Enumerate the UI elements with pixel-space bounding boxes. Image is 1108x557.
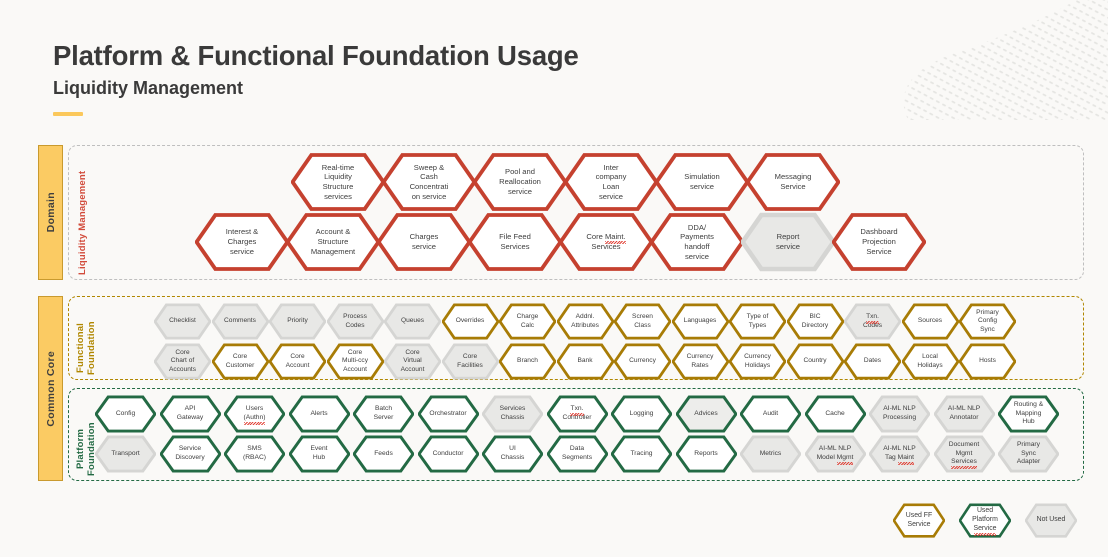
hex-simulation-service[interactable]: Simulation service [655,152,749,212]
hex-label: Services Chassis [491,405,534,422]
hex-txn-codes[interactable]: Txn. Codes [844,303,901,340]
hex-label: Users (Authn) [235,405,274,422]
hex-label: BIC Directory [794,313,836,330]
hex-label: Dates [856,357,889,365]
hex-languages[interactable]: Languages [672,303,729,340]
spellcheck-underline: Maint [898,454,914,463]
hex-label: Currency Holidays [736,353,779,370]
hex-ai-ml-nlp-processing[interactable]: AI-ML NLP Processing [869,395,930,433]
hex-label: Bank [570,357,601,365]
hex-label: Routing & Mapping Hub [1005,401,1051,427]
hex-core-chart-of-accounts[interactable]: Core Chart of Accounts [154,343,211,380]
hex-label: Charge Calc [509,313,547,330]
hex-label: Audit [754,410,786,419]
hex-label: File Feed Services [486,232,544,251]
hex-label: Type of Types [739,313,777,330]
hex-label: Metrics [751,450,790,459]
hex-country[interactable]: Country [787,343,844,380]
hex-label: Logging [621,410,662,419]
hex-core-account[interactable]: Core Account [269,343,326,380]
hex-sms-rbac[interactable]: SMS (RBAC) [224,435,285,473]
hex-label: Service Discovery [167,445,213,462]
hex-label: Document Mgmt Services [940,441,988,467]
hex-report-service[interactable]: Report service [741,212,835,272]
page-title: Platform & Functional Foundation Usage [53,40,579,72]
hex-label: Core Account [278,353,318,370]
hex-label: Cache [817,410,853,419]
hex-event-hub[interactable]: Event Hub [289,435,350,473]
hex-label: Comments [216,317,264,325]
hex-currency-holidays[interactable]: Currency Holidays [729,343,786,380]
hex-services-chassis[interactable]: Services Chassis [482,395,543,433]
hex-label: Checklist [161,317,204,325]
hex-audit[interactable]: Audit [740,395,801,433]
hex-label: DDA/ Payments handoff service [667,223,727,262]
page-subtitle: Liquidity Management [53,78,579,99]
hex-interest-charges-service[interactable]: Interest & Charges service [195,212,289,272]
hex-advices[interactable]: Advices [676,395,737,433]
hex-label: Currency [621,357,664,365]
hex-label: Charges service [396,232,451,251]
hex-label: Priority [279,317,315,325]
hex-tracing[interactable]: Tracing [611,435,672,473]
hex-pool-and-reallocation-service[interactable]: Pool and Reallocation service [473,152,567,212]
hex-real-time-liquidity-structure-services[interactable]: Real-time Liquidity Structure services [291,152,385,212]
spellcheck-underline: Services [951,458,977,467]
platform-foundation-row-2: TransportService DiscoverySMS (RBAC)Even… [95,435,1063,473]
hex-label: Sweep & Cash Concentrati on service [396,163,461,202]
hex-feeds[interactable]: Feeds [353,435,414,473]
hex-label: Core Facilities [449,353,491,370]
spellcheck-underline: Txn. [570,405,583,414]
hex-inter-company-loan-service[interactable]: Inter company Loan service [564,152,658,212]
side-tab-common-core-label: Common Core [45,351,57,427]
spellcheck-underline: (Authn) [244,414,266,423]
hex-core-maint-services[interactable]: Core Maint. Services [559,212,653,272]
legend-item-used-ff-service: Used FF Service [893,503,945,538]
hex-charge-calc[interactable]: Charge Calc [499,303,556,340]
hex-label: Conductor [424,450,472,459]
hex-dates[interactable]: Dates [844,343,901,380]
hex-label: Orchestrator [421,410,475,419]
hex-label: AI-ML NLP Tag Maint [875,445,925,462]
hex-label: Core Virtual Account [393,349,433,374]
hex-users-authn[interactable]: Users (Authn) [224,395,285,433]
hex-metrics[interactable]: Metrics [740,435,801,473]
hex-hosts[interactable]: Hosts [959,343,1016,380]
legend-item-not-used: Not Used [1025,503,1077,538]
platform-foundation-row-1: ConfigAPI GatewayUsers (Authn)AlertsBatc… [95,395,1063,433]
hex-charges-service[interactable]: Charges service [377,212,471,272]
hex-overrides[interactable]: Overrides [442,303,499,340]
spellcheck-underline: Txn. [866,313,879,321]
hex-core-multi-ccy-account[interactable]: Core Multi-ccy Account [327,343,384,380]
hex-transport[interactable]: Transport [95,435,156,473]
hex-label: Config [107,410,143,419]
hex-dashboard-projection-service[interactable]: Dashboard Projection Service [832,212,926,272]
hex-type-of-types[interactable]: Type of Types [729,303,786,340]
panel-label-domain: Liquidity Management [78,150,89,275]
hex-label: Core Maint. Services [573,232,639,251]
hex-currency[interactable]: Currency [614,343,671,380]
hex-label: UI Chassis [492,445,533,462]
hex-cache[interactable]: Cache [805,395,866,433]
hex-label: Report service [763,232,813,251]
hex-label: Overrides [448,317,493,325]
hex-process-codes[interactable]: Process Codes [327,303,384,340]
hex-label: Data Segments [553,445,600,462]
hex-service-discovery[interactable]: Service Discovery [160,435,221,473]
hex-label: Primary Config Sync [968,309,1007,334]
hex-label: Txn. Controller [554,405,600,422]
hex-label: Txn. Codes [855,313,890,330]
hex-core-customer[interactable]: Core Customer [212,343,269,380]
hex-label: Advices [686,410,726,419]
side-tab-common-core: Common Core [38,296,63,481]
hex-label: Branch [509,357,546,365]
hex-label: Pool and Reallocation service [486,167,554,196]
hex-label: SMS (RBAC) [234,445,274,462]
hex-label: Event Hub [302,445,336,462]
slide-canvas: Platform & Functional Foundation Usage L… [0,0,1108,557]
hex-ai-ml-nlp-tag-maint[interactable]: AI-ML NLP Tag Maint [869,435,930,473]
hex-label: Batch Server [365,405,402,422]
panel-label-functional-foundation: Functional Foundation [76,301,98,375]
hex-label: Screen Class [624,313,661,330]
side-tab-domain: Domain [38,145,63,280]
hex-label: Queues [393,317,432,325]
hex-label: Sources [910,317,950,325]
spellcheck-underline: Maint. [605,232,626,242]
hex-ai-ml-nlp-model-mgmt[interactable]: AI-ML NLP Model Mgmt [805,435,866,473]
hex-account-structure-management[interactable]: Account & Structure Management [286,212,380,272]
hex-document-mgmt-services[interactable]: Document Mgmt Services [934,435,995,473]
hex-label: Not Used [1031,516,1070,525]
hex-conductor[interactable]: Conductor [418,435,479,473]
hex-sources[interactable]: Sources [902,303,959,340]
hex-label: Interest & Charges service [213,227,272,256]
hex-bank[interactable]: Bank [557,343,614,380]
spellcheck-underline: Mgmt [837,454,854,463]
functional-foundation-row-2: Core Chart of AccountsCore CustomerCore … [154,343,1017,380]
hex-label: Used FF Service [901,512,938,530]
hex-logging[interactable]: Logging [611,395,672,433]
header-block: Platform & Functional Foundation Usage L… [53,40,579,116]
decorative-texture [868,0,1108,120]
hex-currency-rates[interactable]: Currency Rates [672,343,729,380]
hex-label: Currency Rates [679,353,722,370]
hex-label: Real-time Liquidity Structure services [309,163,368,202]
hex-label: API Gateway [168,405,211,422]
hex-checklist[interactable]: Checklist [154,303,211,340]
spellcheck-underline: Service [974,525,997,534]
hex-label: Local Holidays [909,353,950,370]
hex-label: Inter company Loan service [582,163,639,202]
hex-label: Addnl. Attributes [563,313,607,330]
hex-label: Country [795,357,834,365]
hex-label: Transport [103,450,148,459]
hex-queues[interactable]: Queues [384,303,441,340]
hex-core-virtual-account[interactable]: Core Virtual Account [384,343,441,380]
hex-api-gateway[interactable]: API Gateway [160,395,221,433]
hex-sweep-cash-concentrati-on-service[interactable]: Sweep & Cash Concentrati on service [382,152,476,212]
hex-label: Hosts [971,357,1004,365]
hex-messaging-service[interactable]: Messaging Service [746,152,840,212]
hex-addnl-attributes[interactable]: Addnl. Attributes [557,303,614,340]
hex-local-holidays[interactable]: Local Holidays [902,343,959,380]
hex-core-facilities[interactable]: Core Facilities [442,343,499,380]
legend: Used FF ServiceUsed Platform ServiceNot … [893,503,1084,538]
functional-foundation-row-1: ChecklistCommentsPriorityProcess CodesQu… [154,303,1017,340]
hex-label: Feeds [366,450,402,459]
hex-reports[interactable]: Reports [676,435,737,473]
side-tab-domain-label: Domain [45,192,57,232]
hex-label: Tracing [622,450,661,459]
hex-label: Primary Sync Adapter [1008,441,1049,467]
hex-config[interactable]: Config [95,395,156,433]
hex-label: Messaging Service [761,172,824,191]
hex-ui-chassis[interactable]: UI Chassis [482,435,543,473]
hex-label: Used Platform Service [959,507,1011,533]
hex-data-segments[interactable]: Data Segments [547,435,608,473]
hex-branch[interactable]: Branch [499,343,556,380]
hex-bic-directory[interactable]: BIC Directory [787,303,844,340]
hex-primary-config-sync[interactable]: Primary Config Sync [959,303,1016,340]
hex-label: Core Multi-ccy Account [334,349,376,374]
hex-comments[interactable]: Comments [212,303,269,340]
hex-label: Alerts [302,410,336,419]
hex-file-feed-services[interactable]: File Feed Services [468,212,562,272]
hex-priority[interactable]: Priority [269,303,326,340]
hex-label: Reports [686,450,726,459]
hex-ai-ml-nlp-annotator[interactable]: AI-ML NLP Annotator [934,395,995,433]
hex-label: Core Chart of Accounts [161,349,204,374]
hex-label: Core Customer [218,353,263,370]
domain-row-1: Real-time Liquidity Structure servicesSw… [291,152,837,212]
hex-label: AI-ML NLP Annotator [939,405,989,422]
hex-screen-class[interactable]: Screen Class [614,303,671,340]
legend-item-used-platform-service: Used Platform Service [959,503,1011,538]
hex-label: Dashboard Projection Service [847,227,910,256]
accent-underline [53,112,83,116]
hex-label: AI-ML NLP Model Mgmt [808,445,862,462]
hex-label: Simulation service [671,172,733,191]
hex-alerts[interactable]: Alerts [289,395,350,433]
hex-orchestrator[interactable]: Orchestrator [418,395,479,433]
hex-txn-controller[interactable]: Txn. Controller [547,395,608,433]
hex-batch-server[interactable]: Batch Server [353,395,414,433]
hex-label: Account & Structure Management [298,227,369,256]
hex-label: AI-ML NLP Processing [874,405,924,422]
hex-label: Process Codes [335,313,375,330]
hex-routing-mapping-hub[interactable]: Routing & Mapping Hub [998,395,1059,433]
domain-row-2: Interest & Charges serviceAccount & Stru… [195,212,923,272]
hex-label: Languages [676,317,725,325]
hex-dda-payments-handoff-service[interactable]: DDA/ Payments handoff service [650,212,744,272]
hex-primary-sync-adapter[interactable]: Primary Sync Adapter [998,435,1059,473]
